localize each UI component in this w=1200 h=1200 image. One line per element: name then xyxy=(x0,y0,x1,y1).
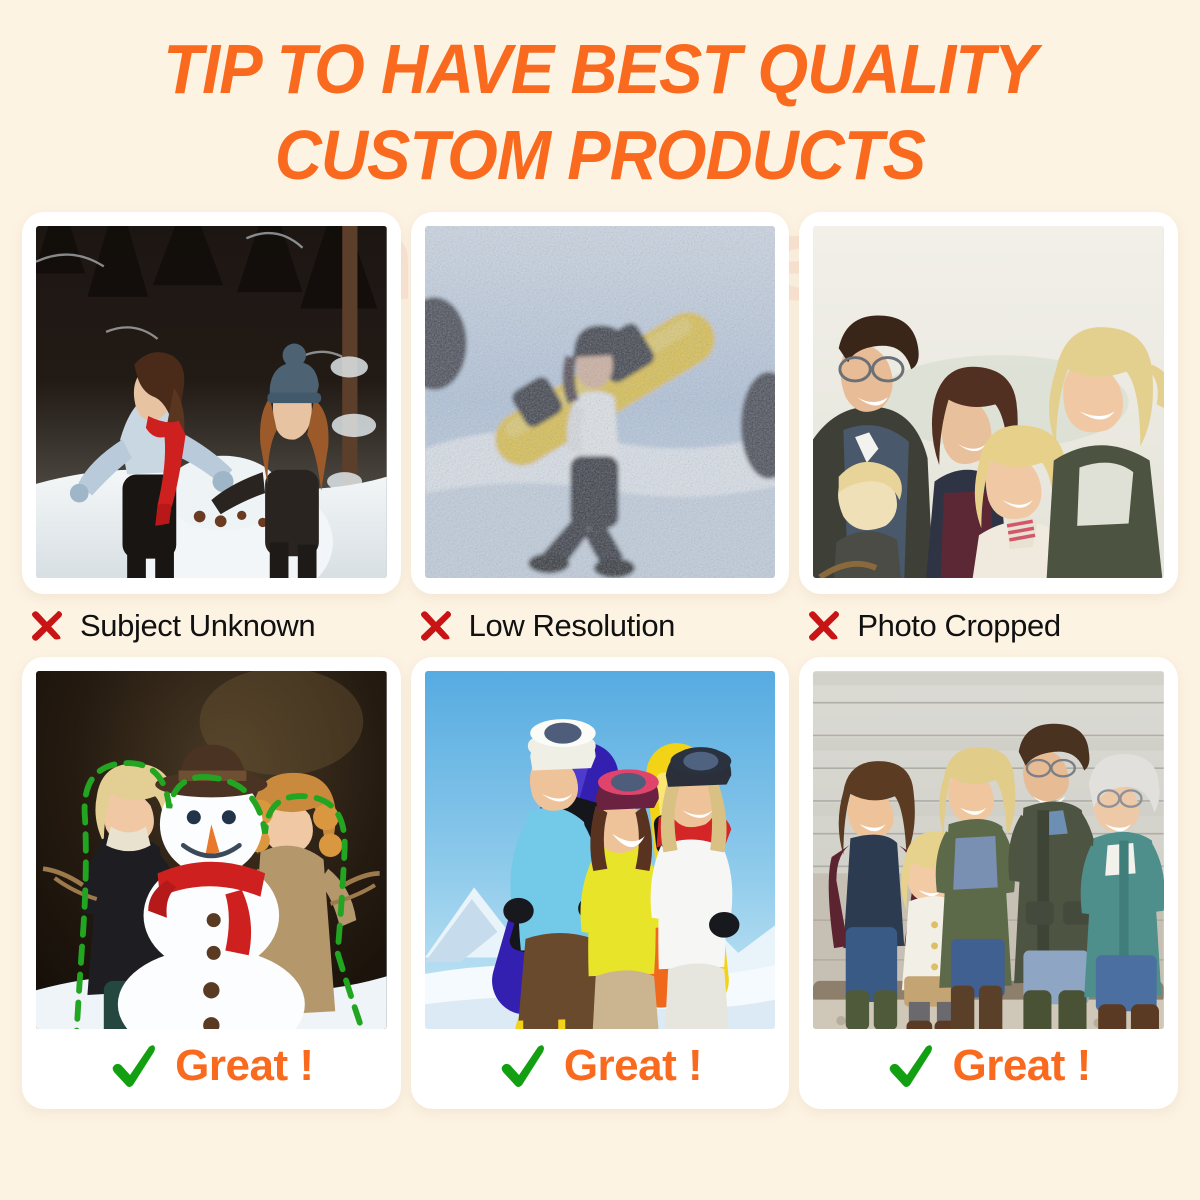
photo-card-photo-cropped xyxy=(799,212,1178,594)
check-icon xyxy=(109,1041,159,1091)
photo-pixelated-snowboarder-walking xyxy=(425,226,776,578)
title-line-2: CUSTOM PRODUCTS xyxy=(42,112,1158,198)
example-cell-great-snowboarders: Great ! xyxy=(411,657,790,1109)
photo-two-women-snowman-outlined xyxy=(36,671,387,1029)
label-text: Low Resolution xyxy=(469,608,675,644)
label-low-resolution: Low Resolution xyxy=(411,607,675,645)
example-cell-great-snowman: Great ! xyxy=(22,657,401,1109)
photo-card-low-resolution xyxy=(411,212,790,594)
photo-card-great-family: Great ! xyxy=(799,657,1178,1109)
label-great-snowboarders: Great ! xyxy=(425,1029,776,1103)
example-cell-photo-cropped: Photo Cropped xyxy=(799,212,1178,645)
label-text: Great ! xyxy=(564,1041,702,1091)
check-icon xyxy=(886,1041,936,1091)
label-text: Photo Cropped xyxy=(857,608,1060,644)
label-text: Great ! xyxy=(175,1041,313,1091)
label-subject-unknown: Subject Unknown xyxy=(22,607,315,645)
label-text: Subject Unknown xyxy=(80,608,315,644)
check-icon xyxy=(498,1041,548,1091)
photo-card-subject-unknown xyxy=(22,212,401,594)
label-text: Great ! xyxy=(952,1041,1090,1091)
example-cell-subject-unknown: Subject Unknown xyxy=(22,212,401,645)
photo-card-great-snowman: Great ! xyxy=(22,657,401,1109)
label-great-family: Great ! xyxy=(813,1029,1164,1103)
good-examples-row: Great ! xyxy=(0,657,1200,1109)
x-icon xyxy=(28,607,66,645)
example-cell-great-family: Great ! xyxy=(799,657,1178,1109)
photo-family-portrait-cropped-edges xyxy=(813,226,1164,578)
photo-family-full-body-wooden-wall xyxy=(813,671,1164,1029)
example-cell-low-resolution: Low Resolution xyxy=(411,212,790,645)
label-great-snowman: Great ! xyxy=(36,1029,387,1103)
page-title: TIP TO HAVE BEST QUALITY CUSTOM PRODUCTS xyxy=(42,0,1158,198)
photo-card-great-snowboarders: Great ! xyxy=(411,657,790,1109)
x-icon xyxy=(417,607,455,645)
title-line-1: TIP TO HAVE BEST QUALITY xyxy=(42,26,1158,112)
x-icon xyxy=(805,607,843,645)
bad-examples-row: Subject Unknown xyxy=(0,212,1200,645)
label-photo-cropped: Photo Cropped xyxy=(799,607,1060,645)
photo-three-snowboarders-blue-sky xyxy=(425,671,776,1029)
photo-two-women-building-snowman-dark-forest xyxy=(36,226,387,578)
